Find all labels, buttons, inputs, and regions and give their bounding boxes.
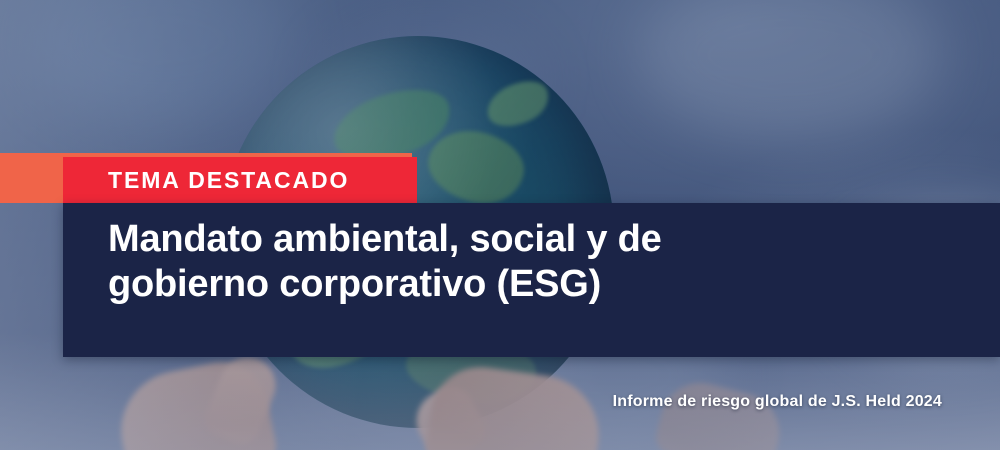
eyebrow-label: TEMA DESTACADO	[108, 167, 349, 194]
report-credit: Informe de riesgo global de J.S. Held 20…	[613, 393, 942, 411]
featured-topic-banner: TEMA DESTACADO Mandato ambiental, social…	[0, 0, 1000, 450]
title-panel: Mandato ambiental, social y de gobierno …	[63, 203, 1000, 357]
page-title: Mandato ambiental, social y de gobierno …	[108, 217, 960, 307]
page-title-line-2: gobierno corporativo (ESG)	[108, 262, 960, 307]
eyebrow-banner: TEMA DESTACADO	[63, 157, 417, 203]
page-title-line-1: Mandato ambiental, social y de	[108, 217, 960, 262]
